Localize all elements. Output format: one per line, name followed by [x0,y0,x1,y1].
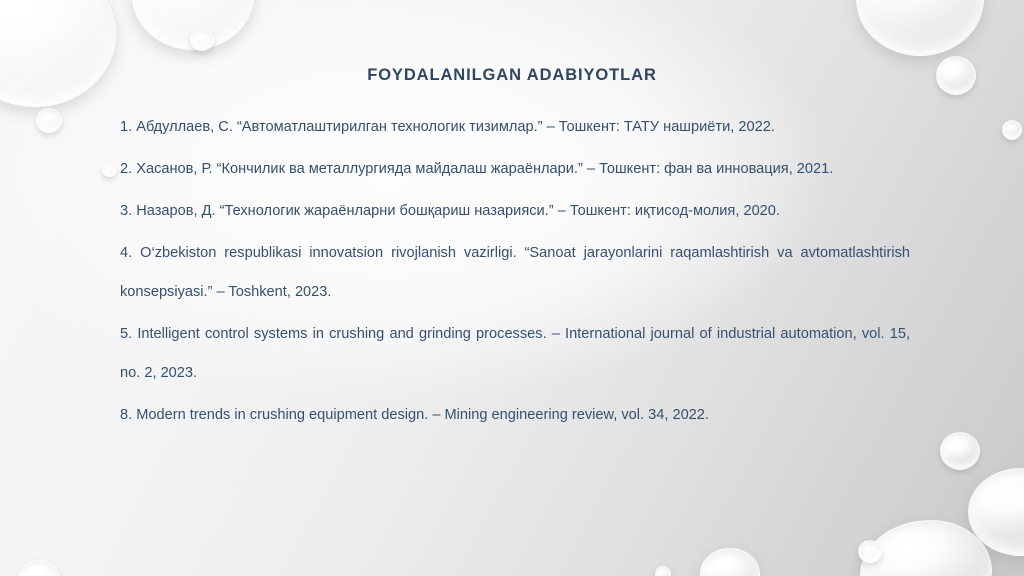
reference-list: 1. Абдуллаев, С. “Автоматлаштирилган тех… [120,108,910,435]
page-title: FOYDALANILGAN ADABIYOTLAR [120,66,904,85]
list-item: 1. Абдуллаев, С. “Автоматлаштирилган тех… [120,108,910,147]
list-item: 8. Modern trends in crushing equipment d… [120,396,910,435]
list-item: 3. Назаров, Д. “Технологик жараёнларни б… [120,192,910,231]
list-item: 2. Хасанов, Р. “Кончилик ва металлургияд… [120,150,910,189]
list-item: 4. O‘zbekiston respublikasi innovatsion … [120,234,910,312]
slide-canvas: FOYDALANILGAN ADABIYOTLAR 1. Абдуллаев, … [0,0,1024,576]
list-item: 5. Intelligent control systems in crushi… [120,315,910,393]
slide-content: FOYDALANILGAN ADABIYOTLAR 1. Абдуллаев, … [0,0,1024,576]
